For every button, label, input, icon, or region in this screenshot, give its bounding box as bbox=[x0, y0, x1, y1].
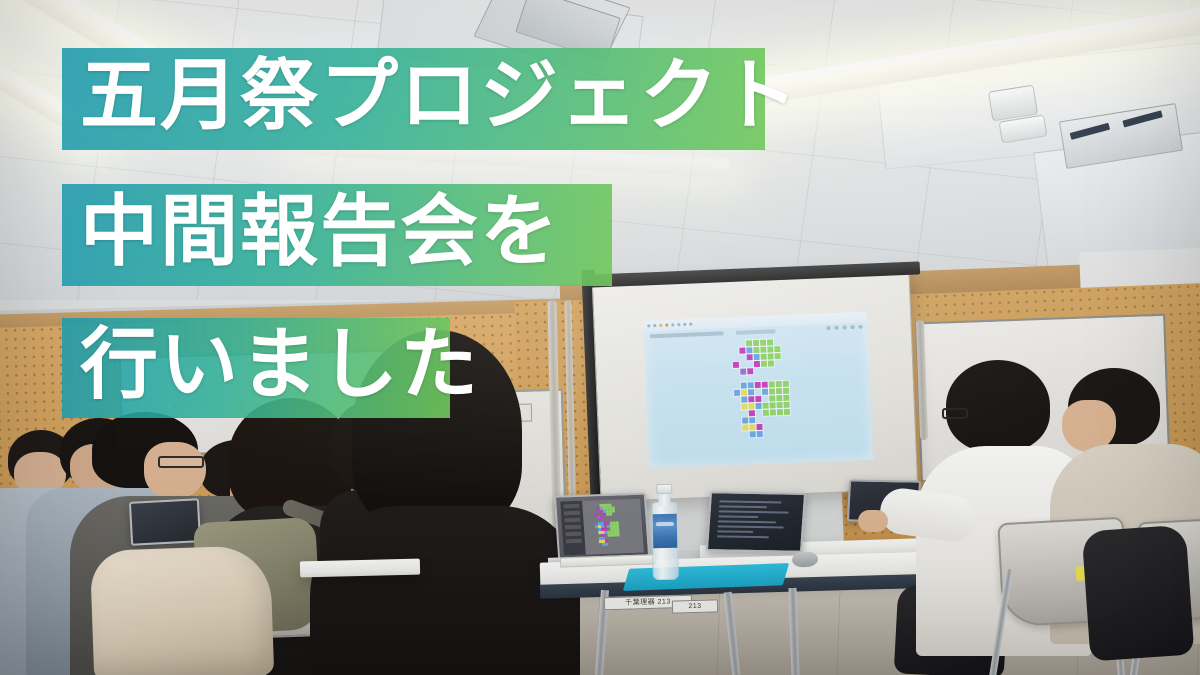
venue-grid-cell bbox=[747, 354, 753, 360]
venue-grid-cell bbox=[753, 347, 759, 353]
venue-grid-cell bbox=[778, 430, 784, 436]
venue-grid-cell bbox=[747, 368, 753, 374]
venue-grid-cell bbox=[768, 374, 774, 380]
venue-grid-cell bbox=[776, 388, 782, 394]
venue-grid-cell bbox=[774, 346, 780, 352]
venue-grid-cell bbox=[736, 432, 742, 438]
venue-grid-cell bbox=[735, 418, 741, 424]
title-line-1: 五月祭プロジェクト bbox=[80, 57, 800, 135]
venue-grid-cell bbox=[776, 381, 782, 387]
venue-grid-cell bbox=[754, 361, 760, 367]
venue-grid-cell bbox=[784, 423, 790, 429]
venue-grid-cell bbox=[763, 424, 769, 430]
toolbar-icon bbox=[850, 325, 854, 329]
venue-grid-cell bbox=[733, 369, 739, 375]
venue-grid-cell bbox=[761, 368, 767, 374]
venue-grid-cell bbox=[741, 389, 747, 395]
venue-grid-cell bbox=[739, 347, 745, 353]
venue-grid-cell bbox=[742, 403, 748, 409]
venue-grid-cell bbox=[733, 376, 739, 382]
venue-grid-cell bbox=[742, 417, 748, 423]
venue-grid-cell bbox=[763, 403, 769, 409]
venue-grid-cell bbox=[784, 409, 790, 415]
venue-grid-cell bbox=[725, 348, 731, 354]
bottle-cap bbox=[656, 484, 672, 494]
venue-grid-cell bbox=[755, 389, 761, 395]
venue-grid-cell bbox=[740, 368, 746, 374]
toolbar-icon bbox=[858, 325, 862, 329]
toolbar-icon bbox=[826, 326, 830, 330]
venue-grid-cell bbox=[783, 388, 789, 394]
venue-grid-cell bbox=[757, 431, 763, 437]
venue-grid-cell bbox=[760, 347, 766, 353]
venue-grid-cell bbox=[756, 410, 762, 416]
venue-grid-cell bbox=[728, 404, 734, 410]
venue-grid-cell bbox=[782, 374, 788, 380]
venue-grid-cell bbox=[733, 355, 739, 361]
venue-grid-cell bbox=[764, 431, 770, 437]
laptop bbox=[129, 498, 201, 546]
venue-grid-cell bbox=[761, 375, 767, 381]
venue-grid-cell bbox=[741, 396, 747, 402]
toolbar-dot-icon bbox=[671, 323, 674, 326]
venue-grid-cell bbox=[771, 430, 777, 436]
venue-grid-cell bbox=[755, 396, 761, 402]
toolbar-dot-icon bbox=[677, 323, 680, 326]
venue-grid-cell bbox=[761, 361, 767, 367]
venue-grid-cell bbox=[754, 368, 760, 374]
table bbox=[300, 559, 420, 578]
toolbar-icon bbox=[842, 325, 846, 329]
venue-grid-cell bbox=[749, 403, 755, 409]
venue-grid-cell bbox=[747, 375, 753, 381]
venue-grid-cell bbox=[743, 431, 749, 437]
projected-toolbar-icons bbox=[826, 325, 862, 330]
toolbar-dot-icon bbox=[665, 324, 668, 327]
venue-grid-cell bbox=[774, 339, 780, 345]
projected-slide bbox=[643, 312, 873, 469]
eyeglasses bbox=[942, 408, 968, 419]
venue-grid-cell bbox=[732, 348, 738, 354]
venue-grid-cell bbox=[726, 362, 732, 368]
venue-grid-map bbox=[725, 339, 791, 438]
toolbar-dot-icon bbox=[689, 323, 692, 326]
venue-grid-cell bbox=[727, 397, 733, 403]
venue-grid-cell bbox=[746, 347, 752, 353]
venue-grid-cell bbox=[739, 340, 745, 346]
venue-grid-cell bbox=[740, 354, 746, 360]
venue-grid-cell bbox=[775, 367, 781, 373]
laptop-map-canvas bbox=[582, 499, 644, 555]
venue-grid-cell bbox=[742, 424, 748, 430]
title-band-3: 行いました bbox=[62, 318, 450, 418]
venue-grid-cell bbox=[762, 389, 768, 395]
venue-grid-cell bbox=[746, 340, 752, 346]
venue-grid-cell bbox=[767, 339, 773, 345]
venue-grid-cell bbox=[769, 395, 775, 401]
toolbar-dot-icon bbox=[653, 324, 656, 327]
venue-grid-cell bbox=[784, 416, 790, 422]
title-band-2: 中間報告会を bbox=[62, 184, 612, 286]
venue-grid-cell bbox=[775, 353, 781, 359]
venue-grid-cell bbox=[726, 369, 732, 375]
venue-grid-cell bbox=[769, 388, 775, 394]
venue-grid-cell bbox=[777, 402, 783, 408]
hair bbox=[946, 360, 1050, 452]
venue-grid-cell bbox=[754, 375, 760, 381]
beige-coat bbox=[90, 545, 274, 675]
projected-address-bar bbox=[650, 331, 724, 338]
venue-grid-cell bbox=[763, 410, 769, 416]
venue-grid-cell bbox=[777, 416, 783, 422]
venue-grid-cell bbox=[756, 424, 762, 430]
title-line-3: 行いました bbox=[80, 326, 480, 404]
venue-grid-cell bbox=[748, 396, 754, 402]
venue-grid-cell bbox=[782, 360, 788, 366]
venue-grid-cell bbox=[755, 382, 761, 388]
venue-grid-cell bbox=[734, 397, 740, 403]
venue-grid-cell bbox=[760, 340, 766, 346]
venue-grid-cell bbox=[748, 389, 754, 395]
venue-grid-cell bbox=[783, 395, 789, 401]
venue-grid-row bbox=[729, 430, 791, 438]
venue-grid-cell bbox=[770, 416, 776, 422]
venue-grid-cell bbox=[750, 431, 756, 437]
venue-grid-cell bbox=[748, 382, 754, 388]
venue-grid-cell bbox=[781, 346, 787, 352]
venue-grid-cell bbox=[767, 346, 773, 352]
venue-grid-cell bbox=[769, 381, 775, 387]
venue-grid-cell bbox=[782, 367, 788, 373]
venue-grid-cell bbox=[785, 430, 791, 436]
venue-grid-cell bbox=[733, 362, 739, 368]
title-line-2: 中間報告会を bbox=[80, 193, 560, 271]
venue-grid-cell bbox=[749, 417, 755, 423]
screenshot-root: 213 bbox=[0, 0, 1200, 675]
venue-grid-cell bbox=[783, 381, 789, 387]
bottle-label bbox=[653, 514, 678, 548]
laptop-code-editor bbox=[712, 497, 799, 546]
venue-grid-cell bbox=[749, 410, 755, 416]
venue-grid-cell bbox=[727, 390, 733, 396]
venue-grid-cell bbox=[727, 383, 733, 389]
venue-grid-cell bbox=[726, 355, 732, 361]
venue-grid-cell bbox=[782, 353, 788, 359]
venue-grid-cell bbox=[775, 360, 781, 366]
laptop-venue-grid bbox=[590, 503, 620, 546]
venue-grid-cell bbox=[768, 353, 774, 359]
venue-grid-cell bbox=[776, 395, 782, 401]
venue-grid-cell bbox=[770, 423, 776, 429]
laptop-screen-content bbox=[560, 499, 644, 556]
title-band-1: 五月祭プロジェクト bbox=[62, 48, 765, 150]
venue-grid-cell bbox=[768, 367, 774, 373]
toolbar-icon bbox=[834, 326, 838, 330]
venue-grid-cell bbox=[753, 340, 759, 346]
hand bbox=[858, 510, 888, 532]
venue-grid-cell bbox=[735, 425, 741, 431]
venue-grid-cell bbox=[728, 425, 734, 431]
venue-grid-cell bbox=[777, 409, 783, 415]
venue-grid-cell bbox=[754, 354, 760, 360]
venue-grid-cell bbox=[747, 361, 753, 367]
venue-grid-cell bbox=[784, 402, 790, 408]
venue-grid-cell bbox=[770, 402, 776, 408]
eyeglasses bbox=[158, 456, 204, 468]
venue-grid-cell bbox=[732, 341, 738, 347]
venue-grid-cell bbox=[742, 410, 748, 416]
venue-grid-cell bbox=[728, 418, 734, 424]
venue-grid-cell bbox=[768, 360, 774, 366]
venue-grid-cell bbox=[762, 382, 768, 388]
venue-grid-cell bbox=[775, 374, 781, 380]
venue-grid-cell bbox=[762, 396, 768, 402]
venue-grid-cell bbox=[725, 341, 731, 347]
venue-grid-cell bbox=[770, 409, 776, 415]
venue-grid-cell bbox=[735, 404, 741, 410]
venue-grid-cell bbox=[728, 411, 734, 417]
venue-grid-cell bbox=[734, 383, 740, 389]
venue-grid-cell bbox=[777, 423, 783, 429]
venue-grid-cell bbox=[729, 432, 735, 438]
projected-page-title bbox=[736, 329, 776, 335]
venue-grid-cell bbox=[756, 403, 762, 409]
venue-grid-cell bbox=[749, 424, 755, 430]
venue-grid-cell bbox=[734, 390, 740, 396]
venue-grid-cell bbox=[741, 382, 747, 388]
venue-grid-cell bbox=[781, 339, 787, 345]
venue-grid-cell bbox=[756, 417, 762, 423]
venue-grid-cell bbox=[735, 411, 741, 417]
venue-grid-cell bbox=[740, 361, 746, 367]
venue-grid-cell bbox=[726, 376, 732, 382]
water-bottle bbox=[651, 484, 679, 580]
toolbar-dot-icon bbox=[683, 323, 686, 326]
venue-grid-cell bbox=[740, 375, 746, 381]
venue-grid-cell bbox=[761, 354, 767, 360]
venue-grid-cell bbox=[763, 417, 769, 423]
toolbar-dot-icon bbox=[647, 324, 650, 327]
table-label: 213 bbox=[672, 599, 718, 613]
backpack bbox=[1082, 525, 1195, 662]
toolbar-dot-icon bbox=[659, 324, 662, 327]
